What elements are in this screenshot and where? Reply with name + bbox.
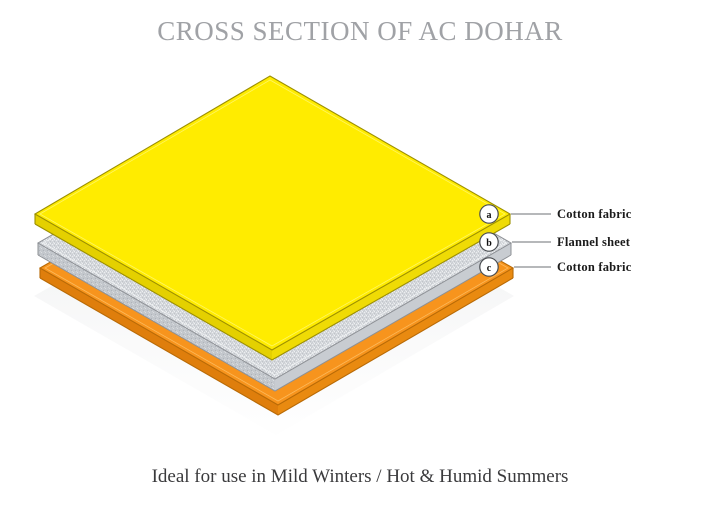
callout-label-c: Cotton fabric xyxy=(557,260,631,275)
callout-label-b: Flannel sheet xyxy=(557,235,630,250)
marker-badge-c[interactable]: c xyxy=(480,258,498,276)
cross-section-figure: CROSS SECTION OF AC DOHAR xyxy=(0,0,720,509)
figure-caption: Ideal for use in Mild Winters / Hot & Hu… xyxy=(0,466,720,488)
marker-badge-b[interactable]: b xyxy=(480,233,498,251)
figure-title: CROSS SECTION OF AC DOHAR xyxy=(0,16,720,47)
callout-leader-lines xyxy=(511,214,551,267)
layer-stack-illustration: a b c xyxy=(0,0,720,509)
marker-badge-a[interactable]: a xyxy=(480,205,498,223)
marker-badge-a-letter: a xyxy=(487,210,492,221)
callout-label-a: Cotton fabric xyxy=(557,207,631,222)
marker-badge-c-letter: c xyxy=(487,263,492,274)
marker-badge-b-letter: b xyxy=(486,238,492,249)
